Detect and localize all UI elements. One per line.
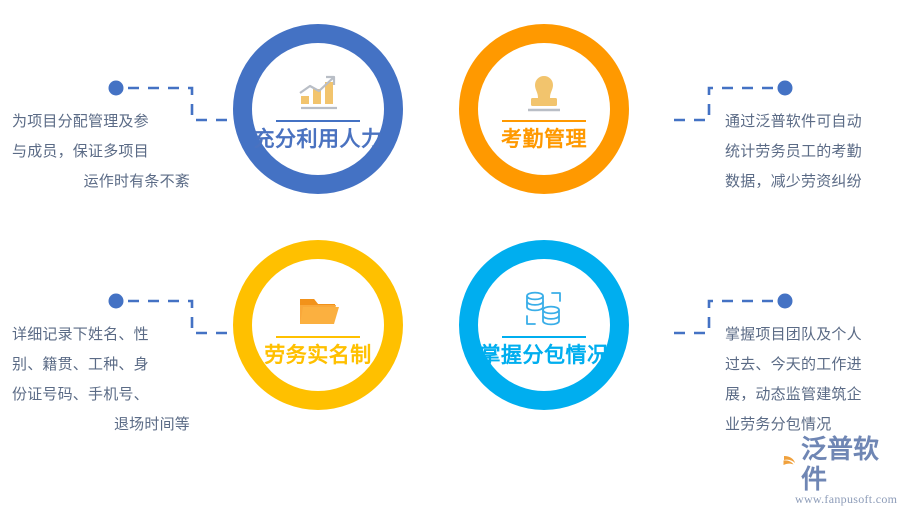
node-divider-subcontract [502,336,586,338]
connector-dot-attendance [778,81,793,96]
node-circle-subcontract[interactable]: 掌握分包情况 [459,240,629,410]
node-label-subcontract: 掌握分包情况 [480,345,609,366]
folder-icon [295,284,341,330]
description-line: 退场时间等 [12,410,190,440]
node-description-hr: 为项目分配管理及参 与成员，保证多项目 运作时有条不紊 [12,107,190,197]
node-circle-realname[interactable]: 劳务实名制 [233,240,403,410]
connector-dot-realname [109,294,124,309]
stamp-icon [522,68,566,114]
node-description-attendance: 通过泛普软件可自动 统计劳务员工的考勤 数据，减少劳资纠纷 [725,107,903,197]
node-label-attendance: 考勤管理 [501,129,587,150]
node-divider-attendance [502,120,586,122]
description-line: 详细记录下姓名、性 [12,320,190,350]
description-line: 运作时有条不紊 [12,167,190,197]
connector-dot-subcontract [778,294,793,309]
connector-dot-hr [109,81,124,96]
brand-url: www.fanpusoft.com [795,492,899,507]
node-divider-realname [276,336,360,338]
database-scan-icon [521,284,567,330]
node-description-subcontract: 掌握项目团队及个人 过去、今天的工作进 展，动态监管建筑企 业劳务分包情况 [725,320,903,440]
node-circle-attendance[interactable]: 考勤管理 [459,24,629,194]
bar-chart-growth-icon [295,68,341,114]
node-circle-hr[interactable]: 充分利用人力 [233,24,403,194]
description-line: 数据，减少劳资纠纷 [725,167,903,197]
description-line: 掌握项目团队及个人 [725,320,903,350]
infographic-canvas: 充分利用人力 考勤管理 劳务实名制 [0,0,906,486]
description-line: 统计劳务员工的考勤 [725,137,903,167]
description-line: 展，动态监管建筑企 [725,380,903,410]
node-label-hr: 充分利用人力 [254,129,383,150]
node-divider-hr [276,120,360,122]
brand-logo[interactable]: 泛普软件 www.fanpusoft.com [773,434,899,482]
description-line: 过去、今天的工作进 [725,350,903,380]
description-line: 与成员，保证多项目 [12,137,190,167]
node-label-realname: 劳务实名制 [264,345,372,366]
description-line: 别、籍贯、工种、身 [12,350,190,380]
fanpu-logo-mark [773,449,799,480]
brand-name: 泛普软件 [801,434,899,494]
description-line: 通过泛普软件可自动 [725,107,903,137]
node-description-realname: 详细记录下姓名、性 别、籍贯、工种、身 份证号码、手机号、 退场时间等 [12,320,190,440]
description-line: 份证号码、手机号、 [12,380,190,410]
description-line: 为项目分配管理及参 [12,107,190,137]
